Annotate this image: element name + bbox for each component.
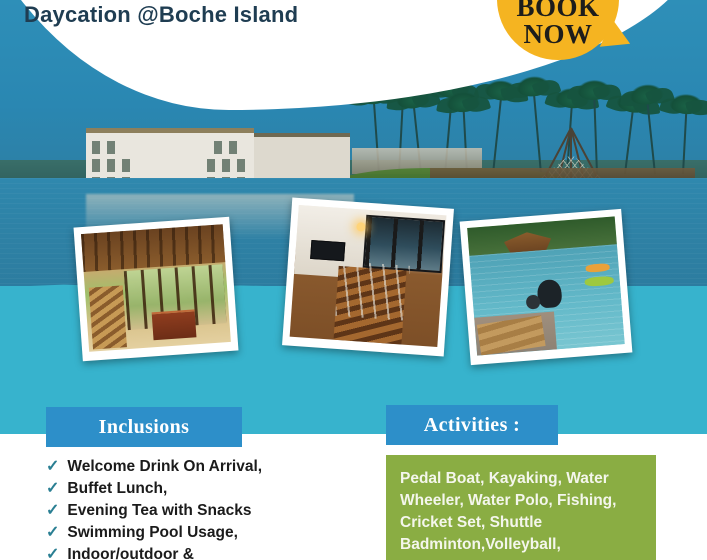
list-item: ✓ Swimming Pool Usage, [46,522,366,543]
inclusion-label: Buffet Lunch, [67,478,167,499]
inclusion-label: Welcome Drink On Arrival, [67,456,262,477]
check-icon: ✓ [46,500,59,521]
photo-room-interior[interactable] [282,198,454,357]
badge-line-2: NOW [524,21,593,48]
activities-text: Pedal Boat, Kayaking, Water Wheeler, Wat… [400,468,642,556]
inclusion-label: Indoor/outdoor & [67,544,194,560]
promotional-flyer: Daycation @Boche Island BOOK NOW [0,0,707,560]
photo-swimming-pool[interactable] [460,209,633,365]
check-icon: ✓ [46,456,59,477]
inclusion-label: Swimming Pool Usage, [67,522,238,543]
list-item: ✓ Evening Tea with Snacks [46,500,366,521]
inclusions-heading: Inclusions [46,407,242,447]
photo-lodge-interior[interactable] [74,217,239,362]
page-title: Daycation @Boche Island [24,2,298,28]
badge-line-1: BOOK [516,0,599,21]
activities-box: Pedal Boat, Kayaking, Water Wheeler, Wat… [386,455,656,560]
list-item: ✓ Indoor/outdoor & [46,544,366,560]
list-item: ✓ Buffet Lunch, [46,478,366,499]
check-icon: ✓ [46,544,59,560]
list-item: ✓ Welcome Drink On Arrival, [46,456,366,477]
check-icon: ✓ [46,478,59,499]
activities-heading: Activities : [386,405,558,445]
inclusions-list: ✓ Welcome Drink On Arrival, ✓ Buffet Lun… [46,456,366,560]
inclusion-label: Evening Tea with Snacks [67,500,251,521]
check-icon: ✓ [46,522,59,543]
